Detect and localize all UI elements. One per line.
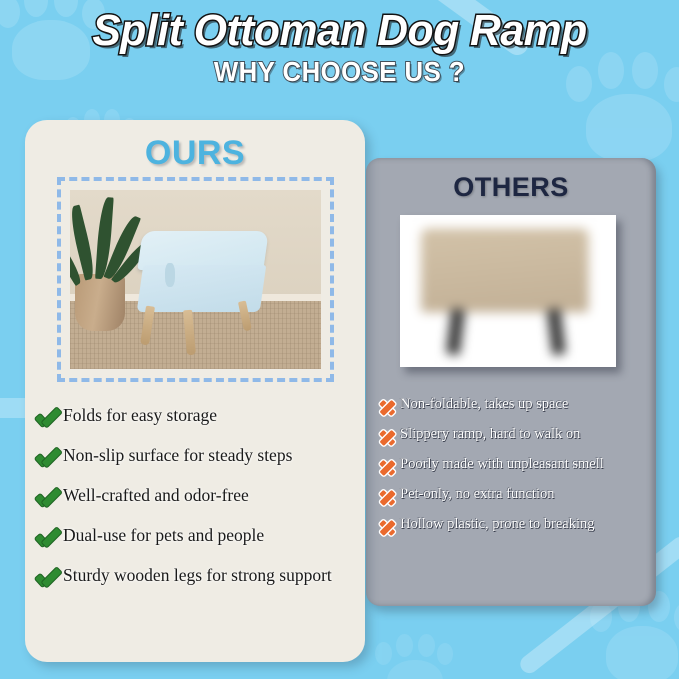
paw-print-icon xyxy=(372,632,456,679)
cross-icon xyxy=(378,457,397,476)
ours-feature-list: Folds for easy storage Non-slip surface … xyxy=(35,405,361,605)
ottoman-body xyxy=(137,265,267,312)
list-item: Poorly made with unpleasant smell xyxy=(378,456,650,476)
list-item: Hollow plastic, prone to breaking xyxy=(378,516,650,536)
cross-icon xyxy=(378,487,397,506)
others-drawback-list: Non-foldable, takes up space Slippery ra… xyxy=(378,396,650,546)
drawback-text: Slippery ramp, hard to walk on xyxy=(400,426,580,443)
check-icon xyxy=(35,566,61,590)
others-product-photo xyxy=(400,215,616,367)
ottoman-pull-tab xyxy=(165,263,175,286)
headline-block: Split Ottoman Dog Ramp WHY CHOOSE US ? xyxy=(0,8,679,88)
list-item: Non-slip surface for steady steps xyxy=(35,445,361,470)
check-icon xyxy=(35,406,61,430)
list-item: Well-crafted and odor-free xyxy=(35,485,361,510)
others-heading: OTHERS xyxy=(366,172,656,203)
feature-text: Sturdy wooden legs for strong support xyxy=(63,565,332,586)
ours-panel: OURS xyxy=(25,120,365,662)
list-item: Pet-only, no extra function xyxy=(378,486,650,506)
cross-icon xyxy=(378,427,397,446)
drawback-text: Pet-only, no extra function xyxy=(400,486,555,503)
list-item: Folds for easy storage xyxy=(35,405,361,430)
feature-text: Non-slip surface for steady steps xyxy=(63,445,292,466)
feature-text: Dual-use for pets and people xyxy=(63,525,264,546)
feature-text: Folds for easy storage xyxy=(63,405,217,426)
check-icon xyxy=(35,446,61,470)
list-item: Slippery ramp, hard to walk on xyxy=(378,426,650,446)
cross-icon xyxy=(378,397,397,416)
ottoman-body xyxy=(421,228,588,312)
list-item: Sturdy wooden legs for strong support xyxy=(35,565,361,590)
check-icon xyxy=(35,486,61,510)
check-icon xyxy=(35,526,61,550)
drawback-text: Non-foldable, takes up space xyxy=(400,396,568,413)
drawback-text: Hollow plastic, prone to breaking xyxy=(400,516,595,533)
ours-product-image xyxy=(57,177,334,382)
others-product-image xyxy=(400,215,616,367)
ours-heading: OURS xyxy=(25,134,365,173)
feature-text: Well-crafted and odor-free xyxy=(63,485,249,506)
list-item: Dual-use for pets and people xyxy=(35,525,361,550)
ours-product-photo xyxy=(70,190,321,369)
drawback-text: Poorly made with unpleasant smell xyxy=(400,456,604,473)
plant-pot xyxy=(75,274,125,331)
list-item: Non-foldable, takes up space xyxy=(378,396,650,416)
page-subtitle: WHY CHOOSE US ? xyxy=(27,56,652,88)
others-panel: OTHERS Non-foldable, takes up space Slip… xyxy=(366,158,656,606)
page-title: Split Ottoman Dog Ramp xyxy=(10,8,669,54)
cross-icon xyxy=(378,517,397,536)
comparison-infographic: Split Ottoman Dog Ramp WHY CHOOSE US ? O… xyxy=(0,0,679,679)
